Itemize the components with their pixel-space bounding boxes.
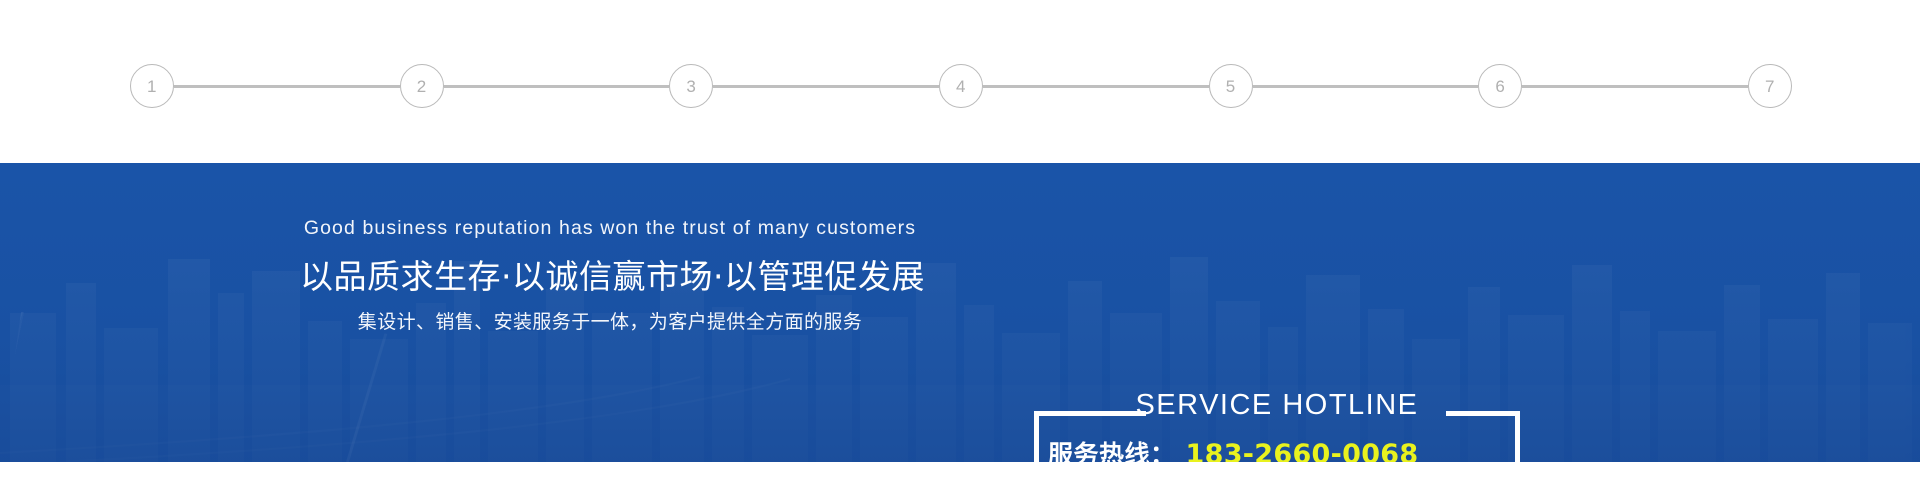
step-number-label: 7 [1765, 78, 1775, 95]
blue-banner-section: Good business reputation has won the tru… [0, 163, 1920, 462]
step-node-2[interactable]: 2 [400, 64, 444, 108]
step-number-label: 1 [147, 78, 157, 95]
slogan-chinese-headline: 以品质求生存·以诚信赢市场·以管理促发展 [300, 256, 920, 297]
step-number-label: 3 [686, 78, 696, 95]
step-connector-line [1253, 85, 1479, 88]
page-footer-banner: 1 2 3 4 5 6 7 [0, 0, 1920, 500]
step-node-5[interactable]: 5 [1209, 64, 1253, 108]
slogan-chinese-subline: 集设计、销售、安装服务于一体，为客户提供全方面的服务 [300, 311, 920, 335]
step-node-6[interactable]: 6 [1478, 64, 1522, 108]
pagination-section: 1 2 3 4 5 6 7 [0, 0, 1920, 163]
step-node-4[interactable]: 4 [939, 64, 983, 108]
service-hotline-box: SERVICE HOTLINE 服务热线： 183-2660-0068 服务热线… [1034, 411, 1520, 462]
hotline-row-primary: 服务热线： 183-2660-0068 [1048, 439, 1506, 462]
step-node-1[interactable]: 1 [130, 64, 174, 108]
step-connector-line [174, 85, 400, 88]
step-node-7[interactable]: 7 [1748, 64, 1792, 108]
step-pagination[interactable]: 1 2 3 4 5 6 7 [130, 64, 1792, 108]
slogan-block: Good business reputation has won the tru… [300, 218, 920, 334]
bottom-white-strip [0, 462, 1920, 500]
hotline-label: 服务热线： [1048, 440, 1176, 462]
step-number-label: 2 [417, 78, 427, 95]
step-node-3[interactable]: 3 [669, 64, 713, 108]
hotline-title: SERVICE HOTLINE [1034, 391, 1520, 420]
hotline-numbers-group: 服务热线： 183-2660-0068 服务热线： 0551-63749777 [1034, 439, 1520, 462]
step-number-label: 5 [1226, 78, 1236, 95]
step-connector-line [1522, 85, 1748, 88]
step-number-label: 4 [956, 78, 966, 95]
hotline-number-mobile[interactable]: 183-2660-0068 [1186, 439, 1419, 462]
step-connector-line [713, 85, 939, 88]
step-number-label: 6 [1495, 78, 1505, 95]
slogan-english-line: Good business reputation has won the tru… [300, 218, 920, 239]
step-connector-line [444, 85, 670, 88]
banner-content: Good business reputation has won the tru… [0, 163, 1920, 462]
step-connector-line [983, 85, 1209, 88]
